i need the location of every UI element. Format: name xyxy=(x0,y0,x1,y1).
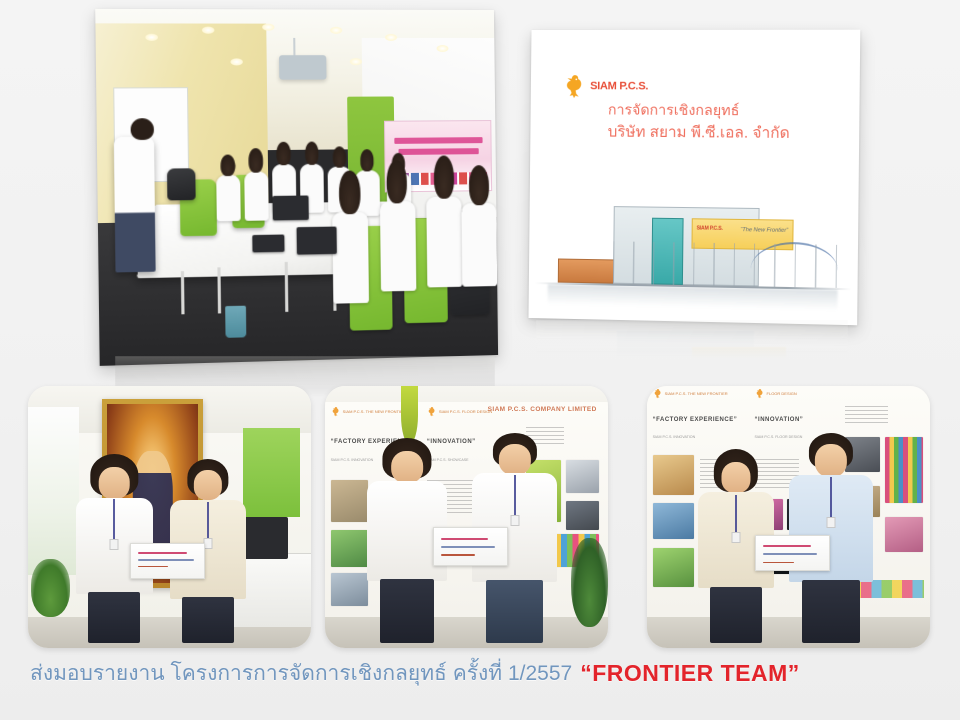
slide-title-line-2: บริษัท สยาม พี.ซี.เอล. จำกัด xyxy=(608,121,839,147)
panel-caption-right: “INNOVATION” xyxy=(755,417,804,423)
rooster-icon xyxy=(427,406,436,417)
slide-logo: SIAM P.C.S. xyxy=(563,73,648,99)
panel-logo-left: SIAM P.C.S. THE NEW FRONTIER xyxy=(331,406,406,417)
building-tagline: “The New Frontier” xyxy=(740,227,788,234)
rooster-icon xyxy=(331,406,340,417)
building-sign-text: SIAM P.C.S. xyxy=(697,226,723,232)
slide-title-block: การจัดการเชิงกลยุทธ์ บริษัท สยาม พี.ซี.เ… xyxy=(608,99,840,146)
report-certificate xyxy=(130,543,206,579)
ceiling-projector xyxy=(279,55,327,80)
decorative-tree xyxy=(571,538,608,627)
panel-logo-sub-left: SIAM P.C.S. THE NEW FRONTIER xyxy=(665,391,728,396)
meeting-room-photo xyxy=(95,9,498,366)
rooster-icon xyxy=(563,73,585,99)
panel-logo-sub-right: SIAM P.C.S. FLOOR DESIGN xyxy=(439,409,492,414)
trousers xyxy=(710,587,762,643)
panel-logo-sub-left: SIAM P.C.S. THE NEW FRONTIER xyxy=(343,409,406,414)
slide-title-line-1: การจัดการเชิงกลยุทธ์ xyxy=(608,99,839,122)
rooster-icon xyxy=(755,388,764,399)
window xyxy=(28,407,79,575)
caption-bar: ส่งมอบรายงาน โครงการการจัดการเชิงกลยุทธ์… xyxy=(0,652,960,694)
id-badge xyxy=(732,532,741,543)
head xyxy=(722,462,751,493)
id-badge xyxy=(110,539,119,550)
lanyard xyxy=(830,477,832,519)
building-ground-reflection xyxy=(548,285,837,310)
slide-logo-text: SIAM P.C.S. xyxy=(590,80,648,92)
potted-plant xyxy=(31,559,71,617)
panel-caption-left: “FACTORY EXPERIENCE” xyxy=(653,417,738,423)
trousers xyxy=(182,597,234,643)
collage-canvas: SIAM P.C.S. การจัดการเชิงกลยุทธ์ บริษัท … xyxy=(0,0,960,720)
title-slide-photo: SIAM P.C.S. การจัดการเชิงกลยุทธ์ บริษัท … xyxy=(529,30,861,326)
trousers xyxy=(802,580,860,643)
panel-logo-left: SIAM P.C.S. THE NEW FRONTIER xyxy=(653,388,728,399)
title-slide-reflection xyxy=(536,320,848,374)
trousers xyxy=(486,580,544,643)
head xyxy=(99,467,130,499)
meeting-room-image xyxy=(95,9,498,366)
lanyard xyxy=(735,495,737,534)
caption-team-label: “FRONTIER TEAM” xyxy=(580,660,800,687)
slide-canvas: SIAM P.C.S. การจัดการเชิงกลยุทธ์ บริษัท … xyxy=(529,30,861,326)
presenter xyxy=(113,137,156,273)
innovation-scene: SIAM P.C.S. THE NEW FRONTIER “FACTORY EX… xyxy=(647,386,930,648)
handover-innovation-photo: SIAM P.C.S. THE NEW FRONTIER “FACTORY EX… xyxy=(647,386,930,648)
building-columns xyxy=(613,241,838,287)
caption-thai-text: ส่งมอบรายงาน โครงการการจัดการเชิงกลยุทธ์… xyxy=(30,663,572,684)
factory-rendering: SIAM P.C.S. “The New Frontier” xyxy=(529,168,859,313)
handover-office-photo xyxy=(28,386,311,648)
panel-logo-right: SIAM P.C.S. FLOOR DESIGN xyxy=(427,406,492,417)
lanyard xyxy=(113,499,115,540)
trousers xyxy=(380,579,434,642)
waste-bin xyxy=(225,305,246,337)
id-badge xyxy=(826,517,835,528)
head xyxy=(194,470,222,499)
id-badge xyxy=(510,515,519,526)
meeting-scene xyxy=(95,9,498,366)
head xyxy=(498,444,530,475)
showroom-scene: SIAM P.C.S. COMPANY LIMITED SIAM P.C.S. … xyxy=(325,386,608,648)
handover-showroom-photo: SIAM P.C.S. COMPANY LIMITED SIAM P.C.S. … xyxy=(325,386,608,648)
rooster-icon xyxy=(653,388,662,399)
head xyxy=(815,444,847,478)
trousers xyxy=(88,592,140,643)
report-certificate xyxy=(433,527,509,566)
panel-logo-right: FLOOR DESIGN xyxy=(755,388,797,399)
lanyard xyxy=(207,502,209,541)
lanyard xyxy=(514,475,516,517)
panel-subcaption-left: SIAM P.C.S. INNOVATION xyxy=(653,435,696,439)
report-certificate xyxy=(755,535,831,571)
head xyxy=(391,451,423,484)
panel-logo-sub-right: FLOOR DESIGN xyxy=(767,391,797,396)
office-scene xyxy=(28,386,311,648)
green-wall-panel xyxy=(243,428,300,517)
